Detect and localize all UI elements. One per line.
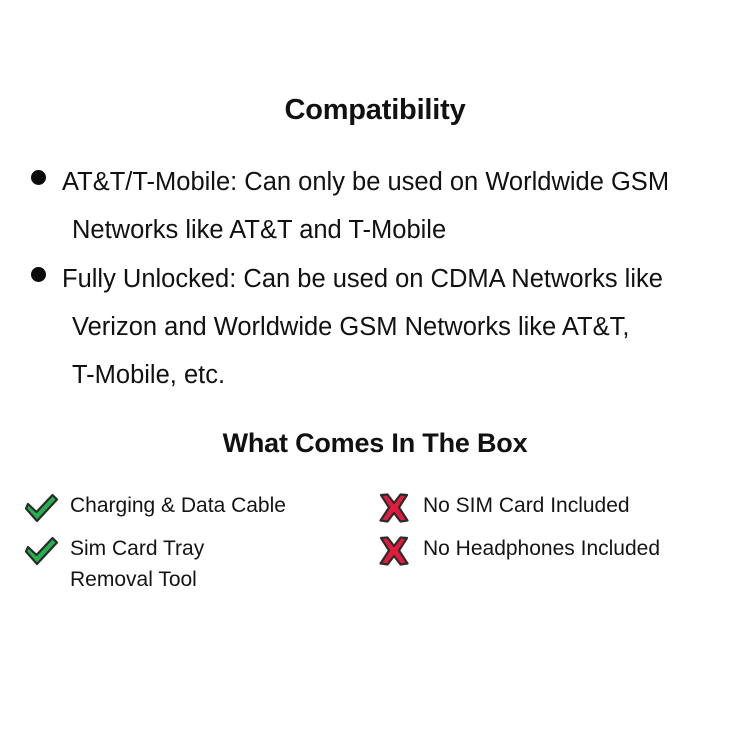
box-contents-heading: What Comes In The Box [0,427,750,459]
item-label: No SIM Card Included [423,490,735,521]
item-label: Removal Tool [70,564,372,595]
product-info-panel: Compatibility AT&T/T-Mobile: Can only be… [0,0,750,750]
bullet-line: Networks like AT&T and T-Mobile [62,206,750,254]
list-item: Charging & Data Cable [22,490,372,524]
included-items-column: Charging & Data Cable Sim Card Tray Remo… [22,490,372,604]
item-label: Charging & Data Cable [70,490,372,521]
list-item: No Headphones Included [375,533,735,567]
green-check-icon [22,536,60,566]
compatibility-bullet-list: AT&T/T-Mobile: Can only be used on World… [0,158,750,400]
bullet-line: T-Mobile, etc. [62,351,750,399]
list-item: AT&T/T-Mobile: Can only be used on World… [0,158,750,254]
list-item: Fully Unlocked: Can be used on CDMA Netw… [0,255,750,399]
bullet-dot-icon [31,170,46,185]
bullet-line: Fully Unlocked: Can be used on CDMA Netw… [62,255,750,303]
list-item: Sim Card Tray Removal Tool [22,533,372,595]
excluded-items-column: No SIM Card Included No Headphones Inclu… [375,490,735,576]
item-label: Sim Card Tray [70,533,372,564]
compatibility-heading: Compatibility [0,93,750,127]
bullet-dot-icon [31,267,46,282]
item-label: No Headphones Included [423,533,735,564]
green-check-icon [22,493,60,523]
bullet-line: AT&T/T-Mobile: Can only be used on World… [62,158,750,206]
list-item: No SIM Card Included [375,490,735,524]
red-cross-icon [375,536,413,566]
red-cross-icon [375,493,413,523]
bullet-line: Verizon and Worldwide GSM Networks like … [62,303,750,351]
